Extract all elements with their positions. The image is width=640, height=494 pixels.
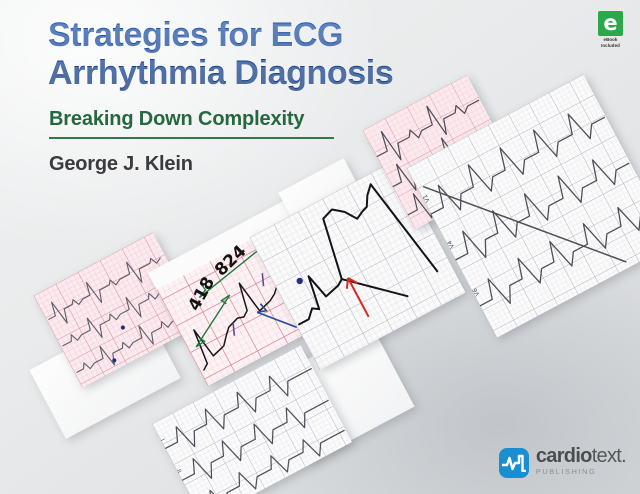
title-line-2: Arrhythmia Diagnosis (48, 54, 518, 92)
subtitle-underline (49, 137, 334, 139)
publisher-logo: cardiotext. PUBLISHING (499, 446, 626, 478)
cardiotext-ecg-waveform-icon (499, 448, 529, 478)
ebook-badge-line-2: Included (594, 43, 627, 49)
ebook-included-badge: e eBook Included (594, 11, 627, 48)
publisher-wordmark: cardiotext. PUBLISHING (536, 446, 626, 476)
publisher-name: cardiotext. (536, 446, 626, 466)
ebook-glyph: e (603, 13, 617, 34)
book-cover: V1 V4 V6 (0, 0, 640, 494)
author-name: George J. Klein (49, 153, 193, 176)
publisher-name-light: text. (592, 445, 626, 467)
page-title: Strategies for ECG Arrhythmia Diagnosis (48, 16, 518, 93)
publisher-name-bold: cardio (536, 445, 592, 467)
publisher-tagline: PUBLISHING (536, 467, 626, 476)
ebook-icon: e (598, 11, 623, 36)
subtitle: Breaking Down Complexity (49, 108, 469, 131)
title-line-1: Strategies for ECG (48, 16, 518, 54)
